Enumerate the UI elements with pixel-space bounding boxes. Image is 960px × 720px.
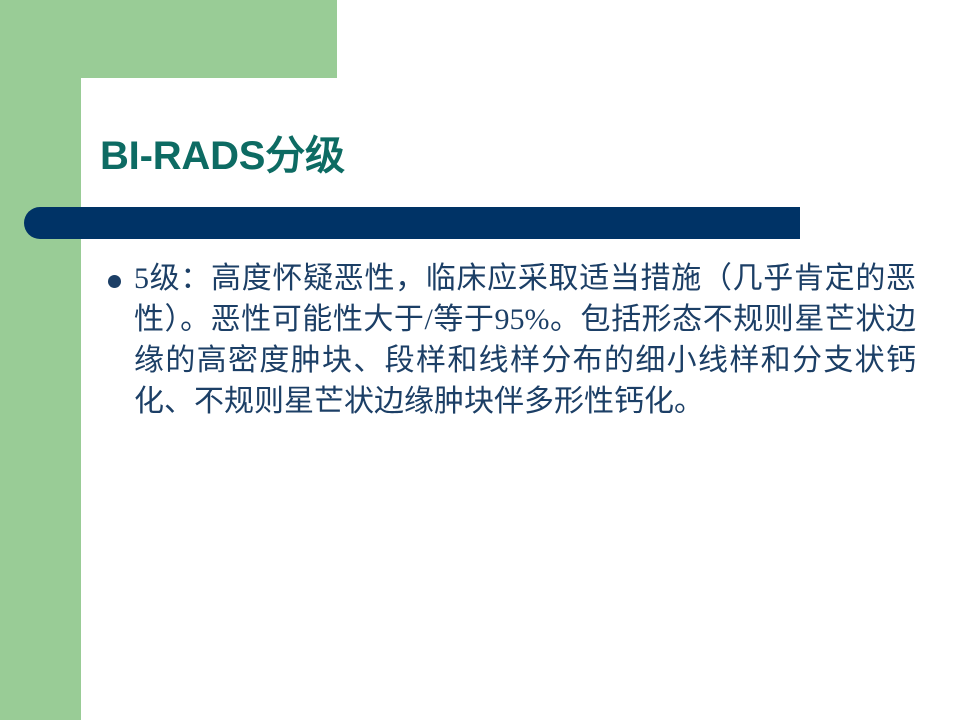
list-item-text: 5级：高度怀疑恶性，临床应采取适当措施（几乎肯定的恶性）。恶性可能性大于/等于9… bbox=[134, 258, 916, 422]
bullet-dot-icon bbox=[108, 275, 121, 288]
slide-body: 5级：高度怀疑恶性，临床应采取适当措施（几乎肯定的恶性）。恶性可能性大于/等于9… bbox=[104, 258, 916, 422]
slide-title: BI-RADS分级 bbox=[100, 128, 860, 188]
decoration-green-top-block bbox=[0, 0, 337, 78]
decoration-green-left-band bbox=[0, 0, 81, 720]
list-item: 5级：高度怀疑恶性，临床应采取适当措施（几乎肯定的恶性）。恶性可能性大于/等于9… bbox=[104, 258, 916, 422]
slide-canvas: BI-RADS分级 5级：高度怀疑恶性，临床应采取适当措施（几乎肯定的恶性）。恶… bbox=[0, 0, 960, 720]
title-underline-bar bbox=[24, 207, 800, 239]
